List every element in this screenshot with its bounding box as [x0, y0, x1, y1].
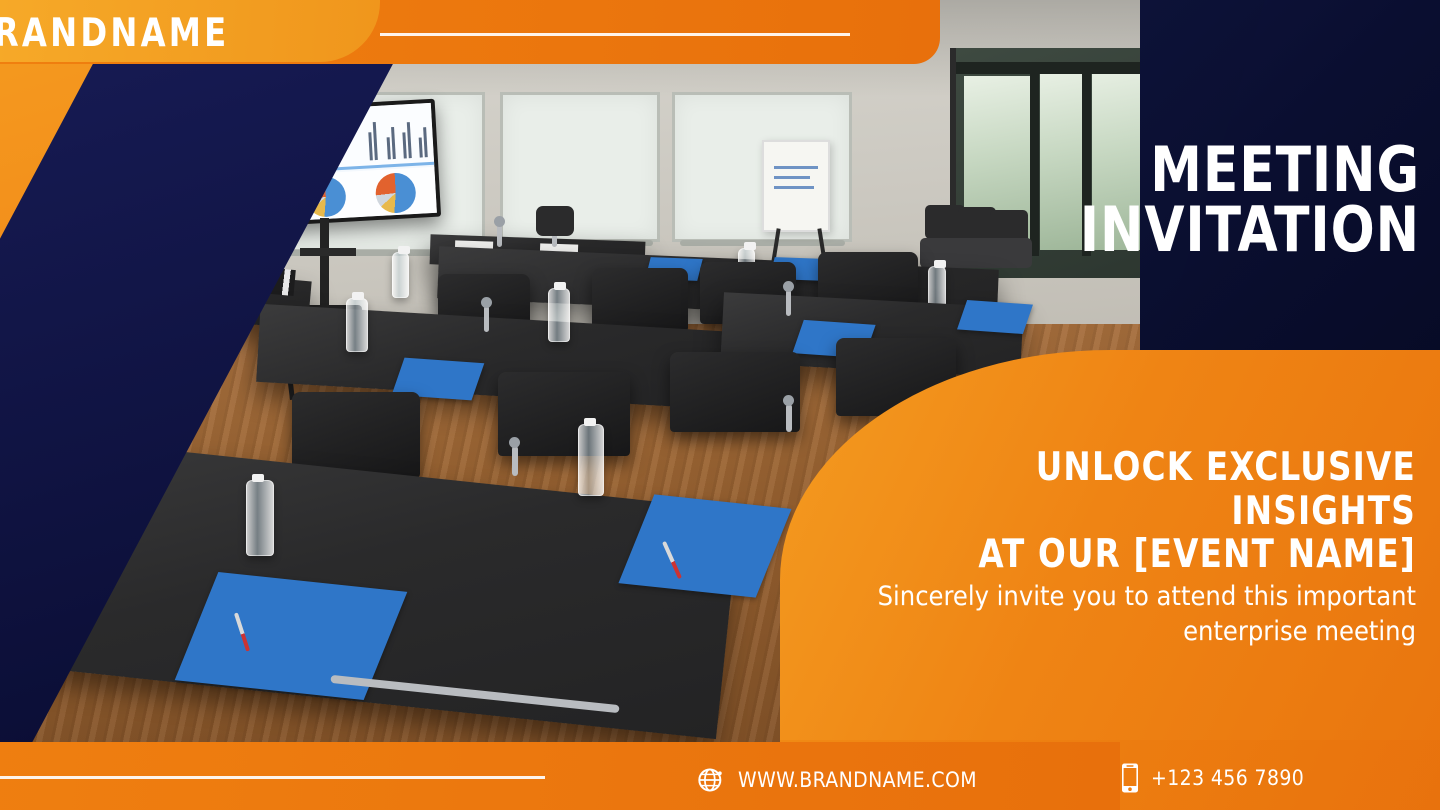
- flipchart: [762, 140, 830, 232]
- brand-name: BRANDNAME: [0, 11, 229, 56]
- water-bottle: [246, 480, 274, 556]
- display-stand: [320, 218, 329, 313]
- microphone: [484, 306, 489, 332]
- top-divider-line: [380, 33, 850, 36]
- bottom-divider-line: [0, 776, 545, 779]
- mobile-phone-icon: [1120, 762, 1140, 794]
- microphone: [512, 446, 518, 476]
- phone-text: +123 456 7890: [1151, 766, 1304, 790]
- website-text: WWW.BRANDNAME.COM: [738, 768, 977, 792]
- chair: [592, 268, 688, 332]
- brand-banner: BRANDNAME: [0, 0, 380, 62]
- microphone: [497, 225, 502, 247]
- phone-contact[interactable]: +123 456 7890: [1120, 762, 1304, 794]
- globe-icon: [697, 766, 725, 794]
- title-line-1: MEETING: [1029, 140, 1420, 200]
- display-shelf: [300, 248, 356, 256]
- whiteboard: [500, 92, 660, 242]
- subtext-line-1: Sincerely invite you to attend this impo…: [776, 580, 1416, 615]
- title-line-2: INVITATION: [1029, 200, 1420, 260]
- meeting-invitation-poster: MEETING INVITATION UNLOCK EXCLUSIVE INSI…: [0, 0, 1440, 810]
- website-contact[interactable]: WWW.BRANDNAME.COM: [697, 766, 977, 794]
- water-bottle: [548, 288, 570, 342]
- water-bottle: [346, 298, 368, 352]
- headline: UNLOCK EXCLUSIVE INSIGHTS AT OUR [EVENT …: [816, 446, 1416, 577]
- invitation-subtext: Sincerely invite you to attend this impo…: [776, 580, 1416, 649]
- headline-line-1: UNLOCK EXCLUSIVE INSIGHTS: [858, 446, 1416, 533]
- microphone: [786, 404, 792, 432]
- chair: [670, 352, 800, 432]
- microphone: [786, 290, 791, 316]
- subtext-line-2: enterprise meeting: [776, 615, 1416, 650]
- water-bottle: [392, 252, 409, 298]
- page-title: MEETING INVITATION: [1000, 140, 1420, 260]
- water-bottle: [578, 424, 604, 496]
- blue-folder: [957, 300, 1033, 334]
- headline-line-2: AT OUR [EVENT NAME]: [858, 533, 1416, 577]
- chair: [536, 206, 574, 236]
